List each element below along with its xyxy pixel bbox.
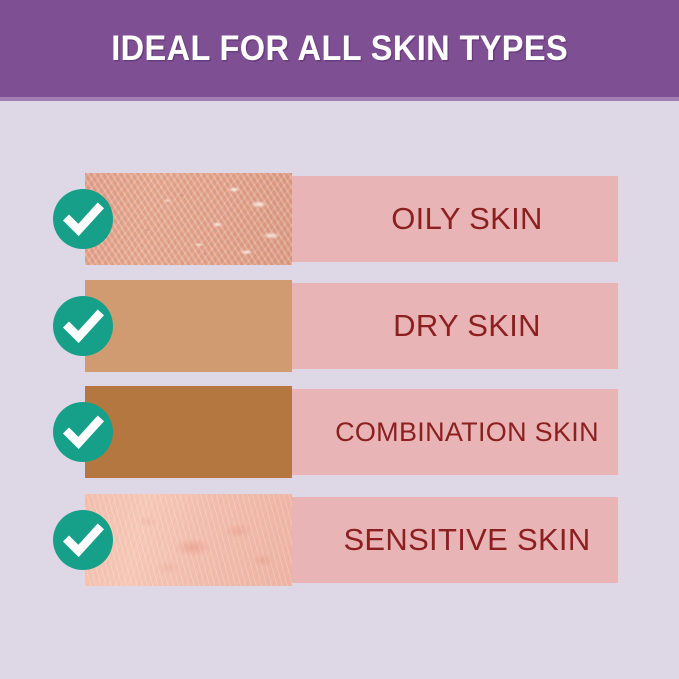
skin-type-label: DRY SKIN <box>316 283 618 369</box>
sensitive-skin-photo <box>85 494 292 586</box>
combination-skin-photo <box>85 386 292 478</box>
page-title: IDEAL FOR ALL SKIN TYPES <box>111 29 568 69</box>
oily-skin-photo <box>85 173 292 265</box>
skin-type-row-combination[interactable]: COMBINATION SKIN <box>61 389 618 475</box>
check-mark-icon <box>53 296 113 356</box>
check-mark-icon <box>53 510 113 570</box>
skin-type-row-sensitive[interactable]: SENSITIVE SKIN <box>61 497 618 583</box>
dry-skin-photo <box>85 280 292 372</box>
skin-type-list: OILY SKIN DRY SKIN COMBINATION SKIN <box>0 101 679 679</box>
check-mark-icon <box>53 402 113 462</box>
check-mark-icon <box>53 189 113 249</box>
skin-type-row-dry[interactable]: DRY SKIN <box>61 283 618 369</box>
header-banner: IDEAL FOR ALL SKIN TYPES <box>0 0 679 97</box>
skin-type-label: SENSITIVE SKIN <box>316 497 618 583</box>
skin-type-label: OILY SKIN <box>316 176 618 262</box>
skin-type-row-oily[interactable]: OILY SKIN <box>61 176 618 262</box>
skin-type-label: COMBINATION SKIN <box>316 389 618 475</box>
